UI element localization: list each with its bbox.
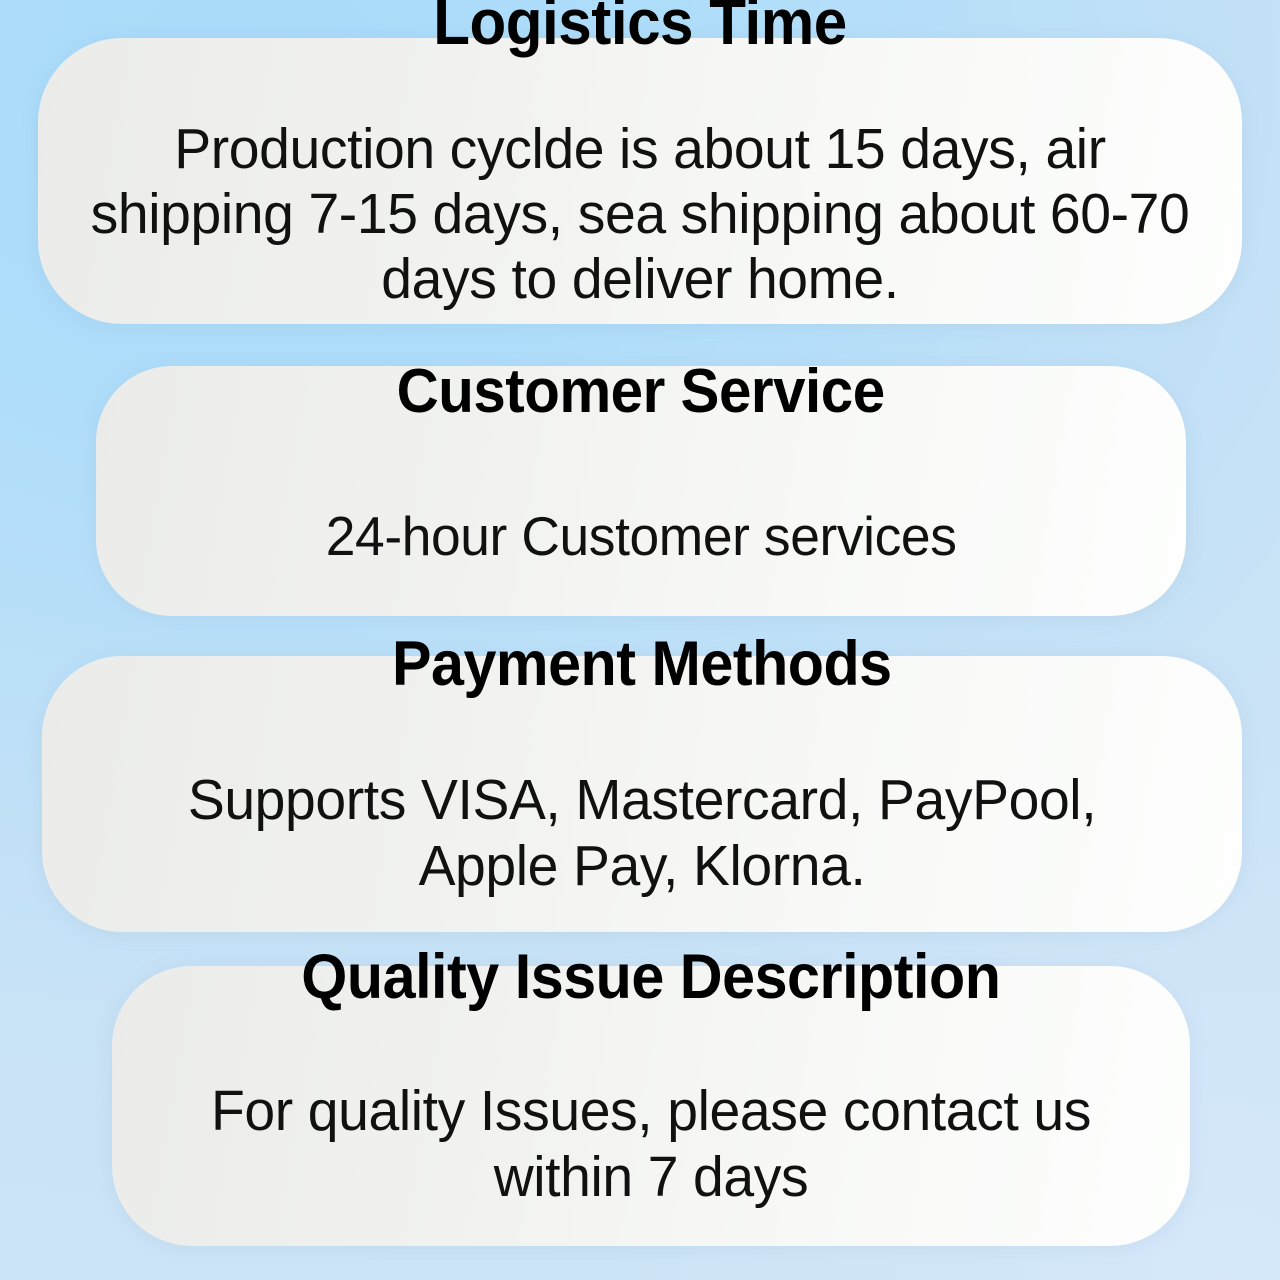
card-body-customer-service: 24-hour Customer services <box>326 505 957 567</box>
card-body-payment-methods: Supports VISA, Mastercard, PayPool, Appl… <box>113 767 1170 899</box>
info-card-logistics-time: Logistics Time Production cyclde is abou… <box>38 38 1242 324</box>
card-title-customer-service: Customer Service <box>397 360 885 424</box>
card-title-logistics-time: Logistics Time <box>433 0 847 56</box>
card-title-payment-methods: Payment Methods <box>392 632 892 698</box>
info-card-quality-issue-description: Quality Issue Description For quality Is… <box>112 966 1190 1246</box>
info-card-customer-service: Customer Service 24-hour Customer servic… <box>96 366 1186 616</box>
card-body-quality-issue-description: For quality Issues, please contact us wi… <box>166 1078 1136 1210</box>
card-title-quality-issue-description: Quality Issue Description <box>301 945 1000 1011</box>
card-body-logistics-time: Production cyclde is about 15 days, air … <box>87 117 1193 312</box>
info-cards-poster: Logistics Time Production cyclde is abou… <box>0 0 1280 1280</box>
info-card-payment-methods: Payment Methods Supports VISA, Mastercar… <box>42 656 1242 932</box>
